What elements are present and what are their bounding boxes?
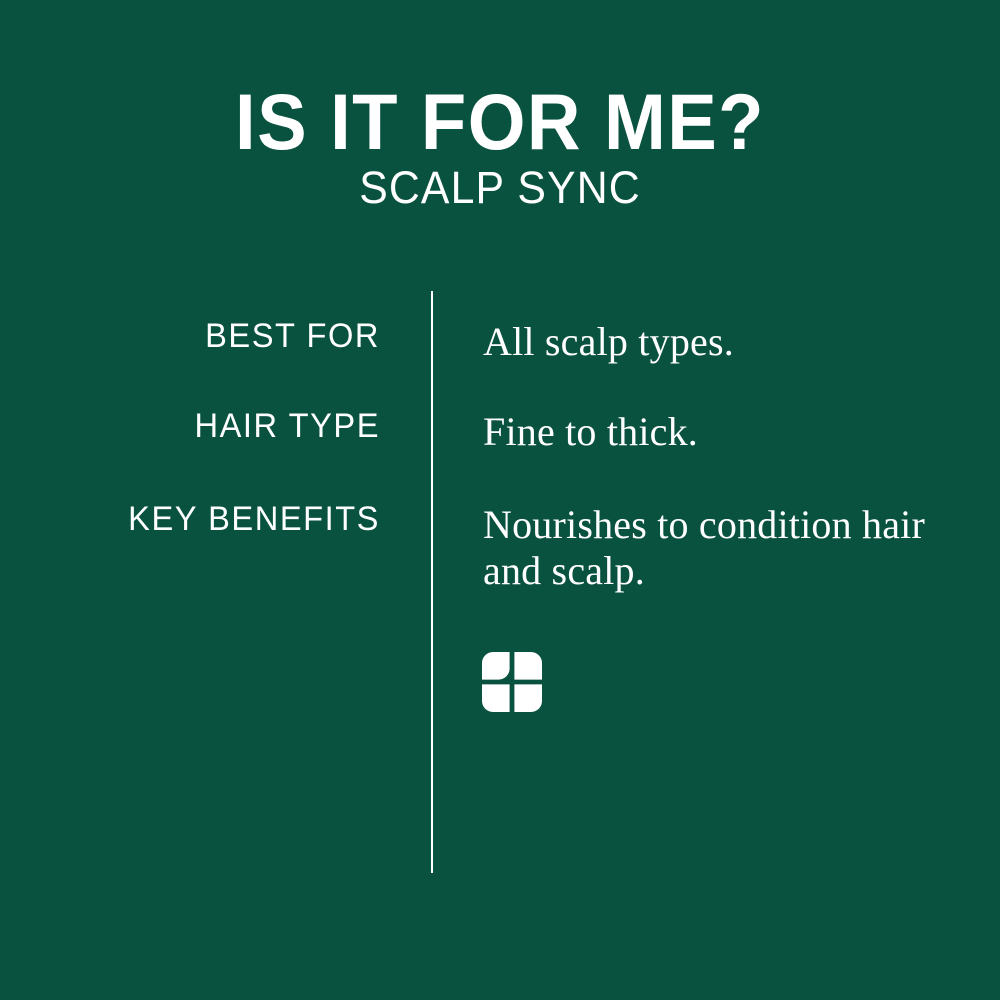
- spec-label-key-benefits: KEY BENEFITS: [73, 502, 380, 536]
- spec-value-best-for: All scalp types.: [483, 319, 953, 365]
- spec-label-best-for: BEST FOR: [73, 319, 380, 353]
- spec-value-key-benefits: Nourishes to condition hair and scalp.: [483, 502, 953, 594]
- spec-label-hair-type: HAIR TYPE: [73, 409, 380, 443]
- spec-table: BEST FOR All scalp types. HAIR TYPE Fine…: [0, 0, 1000, 1000]
- product-info-card: IS IT FOR ME? SCALP SYNC BEST FOR All sc…: [0, 0, 1000, 1000]
- leaf-grid-logo-icon: [481, 651, 543, 713]
- spec-value-hair-type: Fine to thick.: [483, 409, 953, 455]
